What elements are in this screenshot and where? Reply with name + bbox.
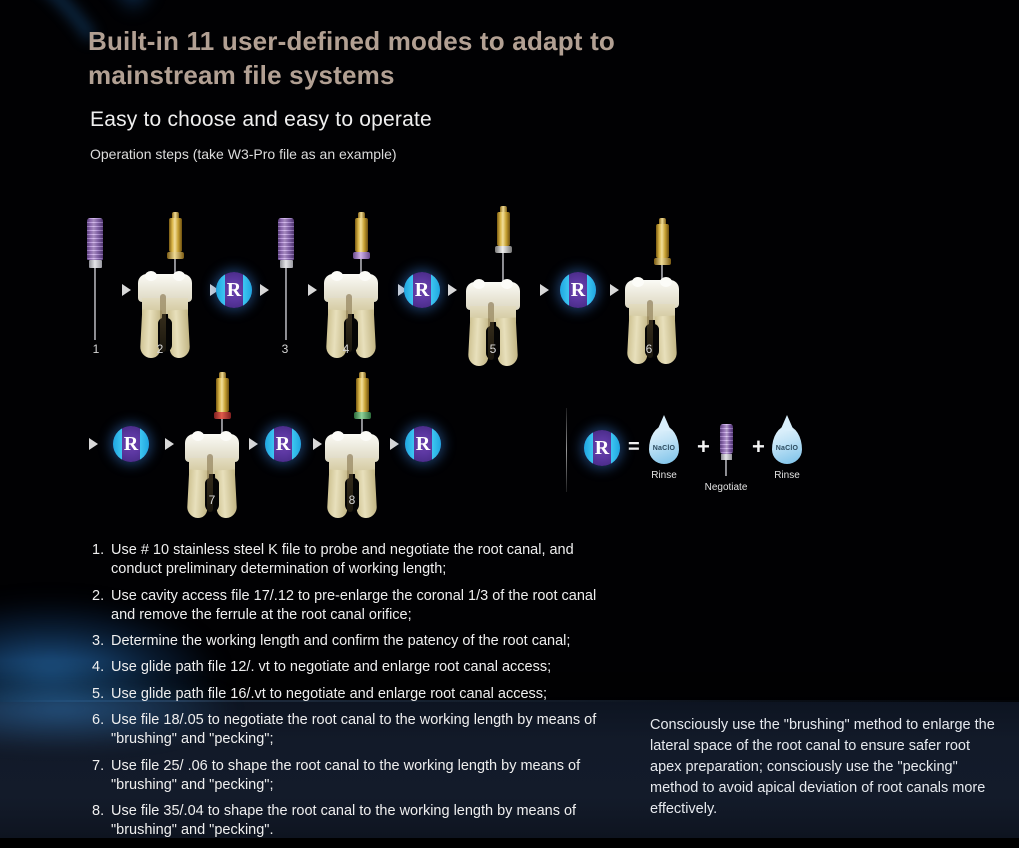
file-ring xyxy=(495,246,512,253)
file-shaft xyxy=(285,268,287,340)
k-file-icon xyxy=(275,218,297,340)
rinse-badge-letter: R xyxy=(404,272,440,308)
legend-caption: Rinse xyxy=(649,470,679,481)
arrow-icon xyxy=(249,438,258,450)
list-item: 4. Use glide path file 12/. vt to negoti… xyxy=(92,658,607,677)
arrow-icon xyxy=(390,438,399,450)
step-number: 4 xyxy=(338,342,354,356)
file-handle xyxy=(355,218,368,252)
file-handle xyxy=(169,218,182,252)
step-text: Use cavity access file 17/.12 to pre-enl… xyxy=(111,587,607,626)
step-index: 6. xyxy=(92,711,111,750)
rinse-badge-circle: R xyxy=(404,272,440,308)
list-item: 1. Use # 10 stainless steel K file to pr… xyxy=(92,541,607,580)
step-number: 7 xyxy=(204,493,220,507)
note-panel: Consciously use the "brushing" method to… xyxy=(650,715,1002,820)
step-index: 3. xyxy=(92,632,111,651)
step-index: 2. xyxy=(92,587,111,626)
step-number: 8 xyxy=(344,493,360,507)
step-number: 6 xyxy=(641,342,657,356)
list-item: 8. Use file 35/.04 to shape the root can… xyxy=(92,802,607,841)
step-number: 3 xyxy=(277,342,293,356)
rinse-badge: R xyxy=(404,272,440,308)
plus-sign: + xyxy=(752,434,765,460)
step-index: 5. xyxy=(92,685,111,704)
plus-sign: + xyxy=(697,434,710,460)
rinse-badge-letter: R xyxy=(216,272,252,308)
workflow-row-2: R 7 R xyxy=(85,368,465,508)
arrow-icon xyxy=(313,438,322,450)
arrow-icon xyxy=(122,284,131,296)
step-number: 2 xyxy=(152,342,168,356)
step-text: Use file 35/.04 to shape the root canal … xyxy=(111,802,607,841)
list-item: 7. Use file 25/ .06 to shape the root ca… xyxy=(92,757,607,796)
file-collar xyxy=(89,260,102,268)
file-ring xyxy=(654,258,671,265)
workflow-row-1: 1 2 R 3 xyxy=(80,196,700,366)
water-drop-icon: NaClO xyxy=(649,426,679,464)
step-text: Use file 18/.05 to negotiate the root ca… xyxy=(111,711,607,750)
page-subtitle: Easy to choose and easy to operate xyxy=(90,108,432,132)
arrow-icon xyxy=(448,284,457,296)
file-handle xyxy=(216,378,229,412)
rotary-file-icon xyxy=(490,206,516,291)
water-drop-icon: NaClO xyxy=(772,426,802,464)
rinse-badge-letter: R xyxy=(265,426,301,462)
list-item: 3. Determine the working length and conf… xyxy=(92,632,607,651)
rinse-badge-circle: R xyxy=(265,426,301,462)
step-index: 7. xyxy=(92,757,111,796)
arrow-icon xyxy=(89,438,98,450)
arrow-icon xyxy=(165,438,174,450)
endo-file-icon xyxy=(717,424,735,476)
arrow-icon xyxy=(260,284,269,296)
legend-caption: Negotiate xyxy=(697,482,755,493)
step-text: Use glide path file 16/.vt to negotiate … xyxy=(111,685,607,704)
file-ring xyxy=(214,412,231,419)
file-handle xyxy=(656,224,669,258)
list-item: 6. Use file 18/.05 to negotiate the root… xyxy=(92,711,607,750)
workflow-item-file-3 xyxy=(275,218,297,340)
step-number: 1 xyxy=(88,342,104,356)
file-ring xyxy=(353,252,370,259)
file-shaft xyxy=(725,460,727,476)
step-index: 1. xyxy=(92,541,111,580)
rinse-badge: R xyxy=(113,426,149,462)
legend-caption: Rinse xyxy=(772,470,802,481)
rinse-badge: R xyxy=(216,272,252,308)
legend-rinse-badge: R xyxy=(584,430,620,466)
rinse-badge-letter: R xyxy=(405,426,441,462)
rinse-badge: R xyxy=(560,272,596,308)
rinse-badge: R xyxy=(405,426,441,462)
rinse-badge-circle: R xyxy=(405,426,441,462)
step-text: Use file 25/ .06 to shape the root canal… xyxy=(111,757,607,796)
file-shaft xyxy=(94,268,96,340)
file-ring xyxy=(167,252,184,259)
arrow-icon xyxy=(308,284,317,296)
rinse-badge-letter: R xyxy=(584,430,620,466)
file-collar xyxy=(280,260,293,268)
legend-item-rinse-1: NaClO Rinse xyxy=(649,426,679,481)
equals-sign: = xyxy=(628,436,640,459)
file-handle xyxy=(356,378,369,412)
k-file-icon xyxy=(84,218,106,340)
list-item: 5. Use glide path file 16/.vt to negotia… xyxy=(92,685,607,704)
file-handle xyxy=(278,218,294,260)
procedure-steps-list: 1. Use # 10 stainless steel K file to pr… xyxy=(92,541,607,848)
rinse-badge-letter: R xyxy=(560,272,596,308)
step-index: 8. xyxy=(92,802,111,841)
page-title: Built-in 11 user-defined modes to adapt … xyxy=(88,24,688,93)
rinse-badge-circle: R xyxy=(113,426,149,462)
rinse-badge-letter: R xyxy=(113,426,149,462)
step-index: 4. xyxy=(92,658,111,677)
workflow-item-file-1 xyxy=(84,218,106,340)
chemical-label: NaClO xyxy=(772,445,802,452)
rinse-legend: R = NaClO Rinse + Negotiate + NaClO Rins… xyxy=(566,408,816,500)
list-item: 2. Use cavity access file 17/.12 to pre-… xyxy=(92,587,607,626)
file-handle xyxy=(87,218,103,260)
file-ring xyxy=(354,412,371,419)
rinse-badge-circle: R xyxy=(216,272,252,308)
chemical-label: NaClO xyxy=(649,445,679,452)
legend-item-rinse-2: NaClO Rinse xyxy=(772,426,802,481)
rinse-badge-circle: R xyxy=(584,430,620,466)
arrow-icon xyxy=(540,284,549,296)
file-handle xyxy=(720,424,733,454)
operation-steps-caption: Operation steps (take W3-Pro file as an … xyxy=(90,146,397,162)
arrow-icon xyxy=(610,284,619,296)
file-handle xyxy=(497,212,510,246)
legend-divider xyxy=(566,408,567,492)
rinse-badge-circle: R xyxy=(560,272,596,308)
legend-item-negotiate: Negotiate xyxy=(717,424,755,493)
rinse-badge: R xyxy=(265,426,301,462)
step-text: Use glide path file 12/. vt to negotiate… xyxy=(111,658,607,677)
step-number: 5 xyxy=(485,342,501,356)
step-text: Determine the working length and confirm… xyxy=(111,632,607,651)
step-text: Use # 10 stainless steel K file to probe… xyxy=(111,541,607,580)
